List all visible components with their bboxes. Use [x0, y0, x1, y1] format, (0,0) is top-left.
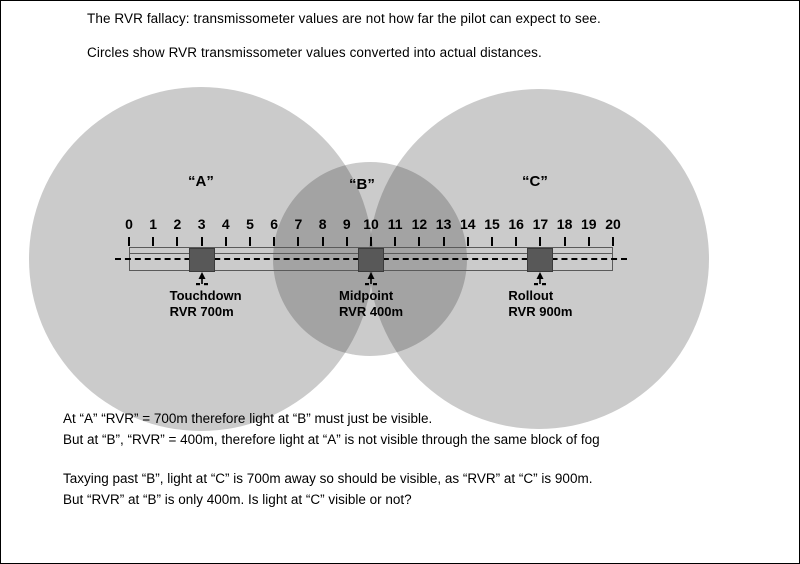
scale-tick-mark-0 — [128, 237, 130, 246]
transmissometer-midpoint — [358, 248, 384, 272]
scale-tick-mark-14 — [467, 237, 469, 246]
transmissometer-rollout — [527, 248, 553, 272]
scale-tick-mark-20 — [612, 237, 614, 246]
scale-tick-mark-2 — [176, 237, 178, 246]
scale-tick-mark-19 — [588, 237, 590, 246]
marker-name-rollout: Rollout — [508, 288, 572, 304]
scale-tick-label-20: 20 — [605, 216, 621, 232]
antenna-icon-midpoint — [361, 272, 381, 286]
marker-caption-touchdown: TouchdownRVR 700m — [170, 288, 242, 320]
scale-tick-label-16: 16 — [508, 216, 524, 232]
scale-tick-mark-9 — [346, 237, 348, 246]
marker-name-midpoint: Midpoint — [339, 288, 403, 304]
antenna-icon-touchdown — [192, 272, 212, 286]
scale-tick-label-10: 10 — [363, 216, 379, 232]
scale-tick-mark-7 — [297, 237, 299, 246]
circle-label-c: “C” — [522, 173, 548, 190]
marker-rvr-rollout: RVR 900m — [508, 304, 572, 320]
scale-tick-label-19: 19 — [581, 216, 597, 232]
scale-tick-label-0: 0 — [125, 216, 133, 232]
scale-tick-mark-3 — [201, 237, 203, 246]
circle-label-a: “A” — [188, 173, 214, 190]
marker-name-touchdown: Touchdown — [170, 288, 242, 304]
explanation-paragraph-1: At “A” “RVR” = 700m therefore light at “… — [63, 408, 600, 450]
circle-label-b: “B” — [349, 176, 375, 193]
scale-tick-mark-17 — [539, 237, 541, 246]
paragraph-1-line-1: At “A” “RVR” = 700m therefore light at “… — [63, 408, 600, 429]
scale-tick-label-17: 17 — [533, 216, 549, 232]
scale-tick-mark-5 — [249, 237, 251, 246]
scale-tick-label-4: 4 — [222, 216, 230, 232]
scale-tick-label-11: 11 — [388, 216, 403, 232]
scale-tick-mark-11 — [394, 237, 396, 246]
scale-tick-label-7: 7 — [294, 216, 302, 232]
paragraph-2-line-2: But “RVR” at “B” is only 400m. Is light … — [63, 489, 592, 510]
scale-tick-label-8: 8 — [319, 216, 327, 232]
scale-tick-label-18: 18 — [557, 216, 573, 232]
scale-tick-label-9: 9 — [343, 216, 351, 232]
marker-rvr-touchdown: RVR 700m — [170, 304, 242, 320]
paragraph-2-line-1: Taxying past “B”, light at “C” is 700m a… — [63, 468, 592, 489]
scale-tick-label-6: 6 — [270, 216, 278, 232]
scale-tick-label-14: 14 — [460, 216, 476, 232]
scale-tick-mark-4 — [225, 237, 227, 246]
scale-tick-mark-16 — [515, 237, 517, 246]
diagram-page: The RVR fallacy: transmissometer values … — [0, 0, 800, 564]
scale-tick-label-3: 3 — [198, 216, 206, 232]
scale-tick-label-5: 5 — [246, 216, 254, 232]
scale-tick-label-12: 12 — [412, 216, 428, 232]
marker-caption-midpoint: MidpointRVR 400m — [339, 288, 403, 320]
scale-tick-label-1: 1 — [149, 216, 157, 232]
scale-tick-label-15: 15 — [484, 216, 500, 232]
transmissometer-touchdown — [189, 248, 215, 272]
paragraph-1-line-2: But at “B”, “RVR” = 400m, therefore ligh… — [63, 429, 600, 450]
scale-tick-label-13: 13 — [436, 216, 452, 232]
scale-tick-mark-12 — [418, 237, 420, 246]
antenna-icon-rollout — [530, 272, 550, 286]
scale-tick-mark-15 — [491, 237, 493, 246]
scale-tick-label-2: 2 — [173, 216, 181, 232]
scale-tick-mark-18 — [564, 237, 566, 246]
scale-tick-mark-6 — [273, 237, 275, 246]
explanation-paragraph-2: Taxying past “B”, light at “C” is 700m a… — [63, 468, 592, 510]
marker-caption-rollout: RolloutRVR 900m — [508, 288, 572, 320]
scale-tick-mark-10 — [370, 237, 372, 246]
scale-tick-mark-13 — [443, 237, 445, 246]
scale-tick-marks — [1, 237, 799, 247]
scale-tick-mark-8 — [322, 237, 324, 246]
scale-tick-numbers: 01234567891011121314151617181920 — [1, 216, 799, 236]
scale-tick-mark-1 — [152, 237, 154, 246]
marker-rvr-midpoint: RVR 400m — [339, 304, 403, 320]
